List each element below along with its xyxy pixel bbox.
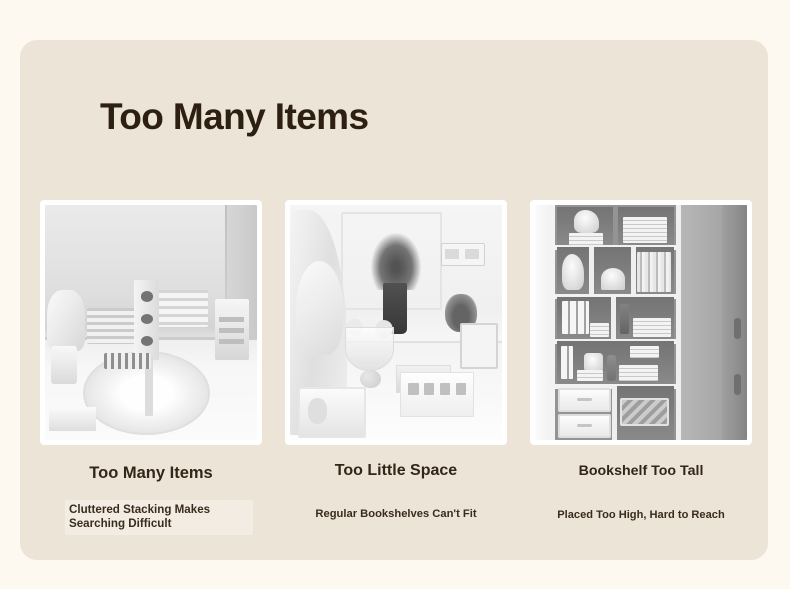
photo1-book-stack-2 — [157, 290, 208, 328]
photo3-books-r2 — [637, 252, 671, 292]
photo3-box-r4 — [577, 370, 604, 382]
photo3-vase — [620, 304, 629, 335]
caption-heading-1: Too Many Items — [40, 464, 262, 483]
photo-frame-3 — [530, 200, 752, 445]
photo3-divider-r3 — [611, 297, 616, 339]
photo2-open-book — [400, 372, 474, 416]
photo3-divider-r5 — [612, 386, 617, 440]
photo1-right-box — [215, 299, 249, 360]
content-panel: Too Many Items — [20, 40, 768, 560]
card-too-little-space — [285, 200, 507, 445]
caption-heading-3: Bookshelf Too Tall — [530, 463, 752, 479]
photo3-flatbooks-r3b — [633, 318, 672, 337]
photo3-ornament-dome — [601, 268, 625, 289]
photo1-cup — [51, 346, 76, 384]
photo3-flatbooks-r4 — [619, 365, 658, 381]
photo2-glass-bowl — [345, 327, 394, 371]
photo3-door-handle-bottom — [734, 374, 740, 395]
photo2-picture-frame — [460, 323, 498, 369]
photo3-ornament-figure — [562, 254, 584, 289]
photo3-small-box-r4 — [630, 346, 659, 358]
photo-frame-1 — [40, 200, 262, 445]
photo3-divider-r2b — [631, 247, 636, 294]
photo3-drawer-bottom[interactable] — [558, 414, 610, 438]
photo1-toy-tower — [134, 280, 159, 360]
caption-subtitle-1: Cluttered Stacking Makes Searching Diffi… — [65, 500, 253, 535]
photo-tall-bookshelf — [535, 205, 747, 440]
photo-cluttered-toys — [45, 205, 257, 440]
card-too-many-items — [40, 200, 262, 445]
photo2-wooden-crate — [298, 387, 366, 438]
card-bookshelf-too-tall — [530, 200, 752, 445]
photo1-pen-row — [104, 353, 151, 369]
photo1-book-stack — [87, 308, 136, 343]
photo1-lamp — [47, 290, 85, 351]
photo3-flatbooks-r3 — [590, 323, 609, 337]
caption-subtitle-2: Regular Bookshelves Can't Fit — [285, 508, 507, 520]
photo3-binders-r3 — [562, 301, 589, 334]
caption-heading-2: Too Little Space — [285, 462, 507, 480]
photo3-flatbooks-r1b — [623, 217, 667, 243]
page-title: Too Many Items — [100, 98, 368, 137]
photo2-chair-back — [296, 261, 343, 355]
photo1-flat-book — [49, 407, 96, 431]
photo2-dried-plant — [371, 233, 422, 289]
photo3-divider-r2a — [589, 247, 594, 294]
photo3-binders-r4 — [561, 346, 573, 379]
photo2-wall-socket — [441, 243, 485, 266]
photo-frame-2 — [285, 200, 507, 445]
photo3-ornament-rabbit — [574, 210, 598, 234]
photo3-door-handle-top — [734, 318, 740, 339]
photo3-woven-basket — [620, 398, 669, 426]
photo3-drawer-top[interactable] — [558, 388, 610, 412]
photo3-bottle — [607, 355, 616, 381]
photo-crowded-desk — [290, 205, 502, 440]
photo3-bookshelf-unit — [550, 205, 681, 440]
caption-subtitle-3: Placed Too High, Hard to Reach — [530, 509, 752, 521]
slide-root: Too Many Items — [0, 0, 790, 589]
